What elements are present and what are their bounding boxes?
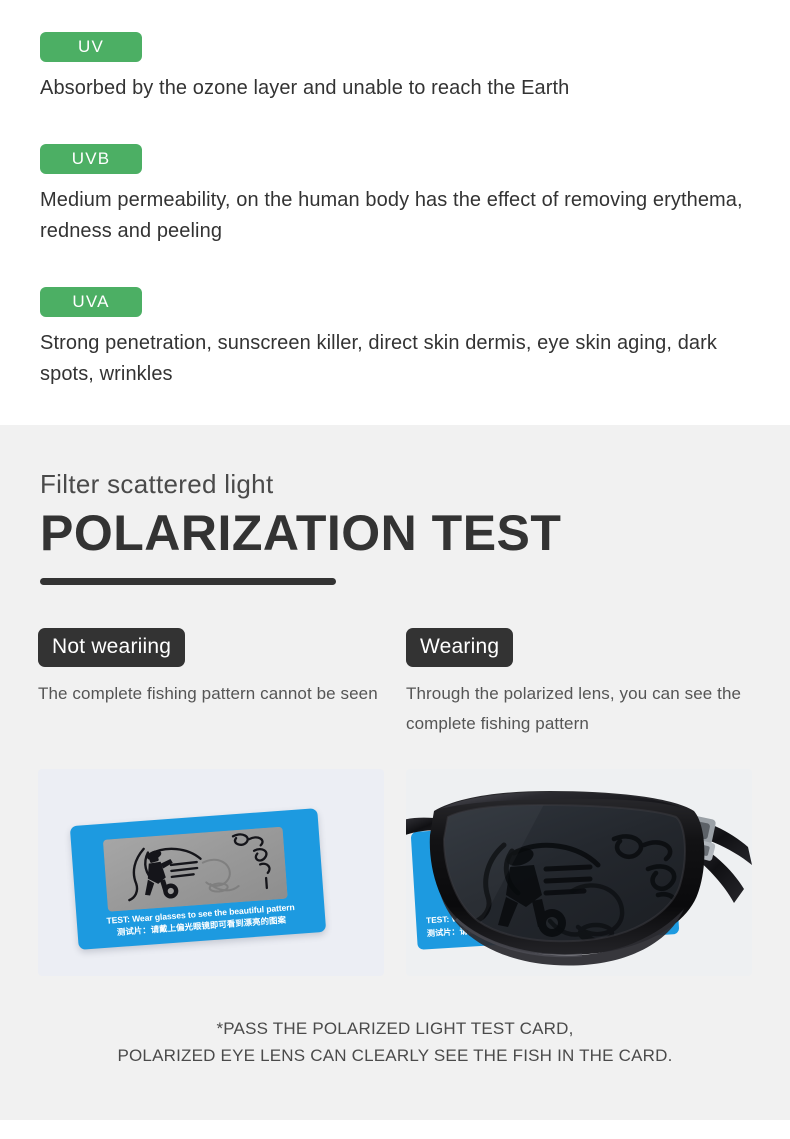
fisherman-pattern-icon (103, 827, 288, 912)
polarized-test-card: TEST: Wear glasses to see the beautiful … (70, 808, 326, 950)
uv-description-uvb: Medium permeability, on the human body h… (40, 185, 770, 247)
uv-item-uva: UVA Strong penetration, sunscreen killer… (40, 287, 770, 390)
uv-badge-uvb: UVB (40, 144, 142, 174)
comparison-column-not-wearing: Not weariing The complete fishing patter… (38, 628, 384, 976)
polarization-test-section: Filter scattered light POLARIZATION TEST… (0, 425, 790, 1120)
uv-info-section: UV Absorbed by the ozone layer and unabl… (0, 0, 790, 425)
badge-not-wearing: Not weariing (38, 628, 185, 667)
page-bottom-spacer (0, 1120, 790, 1139)
test-card-gray-window (103, 827, 288, 912)
polarization-kicker: Filter scattered light (40, 470, 752, 499)
uv-item-uvb: UVB Medium permeability, on the human bo… (40, 144, 770, 247)
description-wearing: Through the polarized lens, you can see … (406, 679, 752, 769)
description-not-wearing: The complete fishing pattern cannot be s… (38, 679, 384, 769)
polarization-caption: *PASS THE POLARIZED LIGHT TEST CARD, POL… (0, 1015, 790, 1069)
product-detail-page: UV Absorbed by the ozone layer and unabl… (0, 0, 790, 1139)
uv-badge-uva: UVA (40, 287, 142, 317)
photo-test-card-with-glasses: TEST: Wear glasses to see the beautiful … (406, 769, 752, 976)
uv-description-uv: Absorbed by the ozone layer and unable t… (40, 73, 569, 104)
title-underline-rule (40, 578, 336, 585)
polarization-title: POLARIZATION TEST (40, 506, 752, 560)
uv-description-uva: Strong penetration, sunscreen killer, di… (40, 328, 770, 390)
caption-line-1: *PASS THE POLARIZED LIGHT TEST CARD, (0, 1015, 790, 1042)
uv-item-uv: UV Absorbed by the ozone layer and unabl… (40, 32, 569, 104)
comparison-column-wearing: Wearing Through the polarized lens, you … (406, 628, 752, 976)
badge-wearing: Wearing (406, 628, 513, 667)
uv-badge-uv: UV (40, 32, 142, 62)
photo-test-card-without-glasses: TEST: Wear glasses to see the beautiful … (38, 769, 384, 976)
comparison-columns: Not weariing The complete fishing patter… (38, 628, 752, 976)
sunglasses-illustration (406, 773, 752, 973)
polarization-heading-group: Filter scattered light POLARIZATION TEST (40, 425, 752, 585)
caption-line-2: POLARIZED EYE LENS CAN CLEARLY SEE THE F… (0, 1042, 790, 1069)
